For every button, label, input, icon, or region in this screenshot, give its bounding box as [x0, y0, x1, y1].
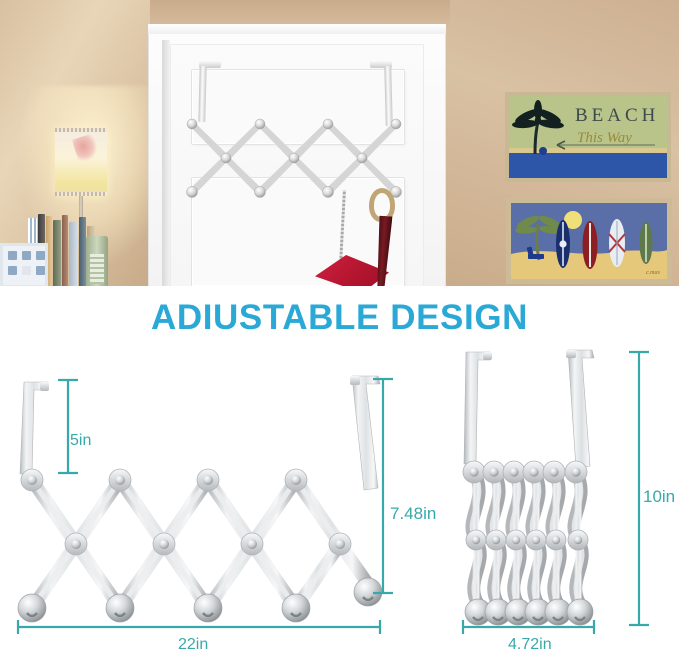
expanded-width-line [0, 618, 440, 634]
product-image: BEACH This Way [0, 0, 679, 667]
dimension-22in: 22in [178, 636, 208, 654]
collapsed-width-line [450, 618, 679, 634]
wall-art-beach-sign: BEACH This Way [505, 92, 671, 182]
svg-text:This Way: This Way [577, 130, 632, 146]
collapsed-hook-left [464, 352, 492, 464]
expanded-dimension-lines [0, 340, 440, 660]
wall-art-surfboards: c.mas [506, 198, 672, 284]
page-title: ADIUSTABLE DESIGN [0, 298, 679, 338]
lifestyle-photo: BEACH This Way [0, 0, 679, 288]
accordion-rack-lattice [186, 118, 402, 198]
dimension-10in: 10in [643, 487, 675, 507]
cordless-phone [86, 236, 108, 288]
svg-text:c.mas: c.mas [646, 270, 660, 276]
picture-frame [0, 243, 48, 288]
svg-text:BEACH: BEACH [575, 105, 659, 126]
lamp-shade-icon [55, 128, 107, 196]
door-edge [162, 40, 170, 288]
dimension-7-48in: 7.48in [390, 504, 436, 524]
lamp-shade-floral-motif [72, 133, 100, 163]
dimension-4-72in: 4.72in [508, 636, 552, 654]
dimension-5in: 5in [70, 432, 91, 450]
door-header [148, 24, 446, 34]
over-door-hook-left-arm [198, 66, 206, 122]
wall-top-strip [150, 0, 450, 26]
